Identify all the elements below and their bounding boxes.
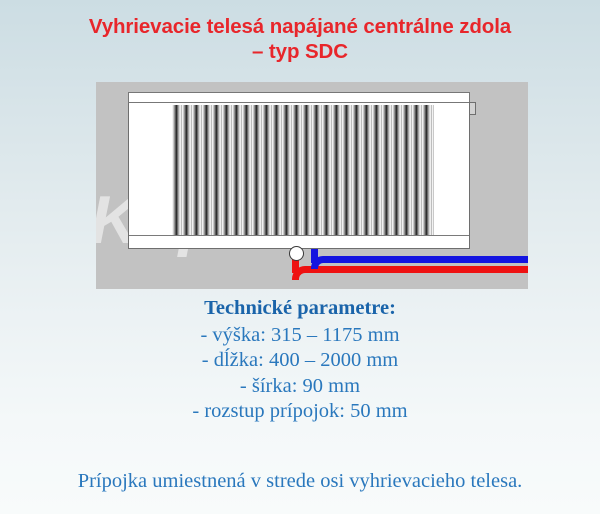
return-pipe-horizontal (324, 256, 528, 263)
radiator-top-cap (128, 92, 470, 103)
central-connection-valve-icon (289, 246, 304, 261)
page-title: Vyhrievacie telesá napájané centrálne zd… (0, 14, 600, 64)
page-title-line2: – typ SDC (0, 39, 600, 64)
spec-height: - výška: 315 – 1175 mm (0, 323, 600, 349)
radiator-bottom-edge (129, 235, 469, 236)
spec-connection-spacing: - rozstup prípojok: 50 mm (0, 399, 600, 425)
radiator-fins (172, 105, 434, 235)
return-pipe (311, 249, 528, 269)
spec-width: - šírka: 90 mm (0, 374, 600, 400)
page-title-line1: Vyhrievacie telesá napájané centrálne zd… (89, 15, 511, 38)
spec-length: - dĺžka: 400 – 2000 mm (0, 348, 600, 374)
radiator-diagram (128, 92, 470, 249)
footer-note: Prípojka umiestnená v strede osi vyhriev… (0, 470, 600, 493)
radiator-illustration: KúpeľneSK (96, 82, 528, 289)
technical-parameters-heading: Technické parametre: (0, 296, 600, 322)
slide-root: Vyhrievacie telesá napájané centrálne zd… (0, 0, 600, 514)
radiator-wall-bracket-icon (469, 102, 476, 115)
technical-parameters: Technické parametre: - výška: 315 – 1175… (0, 296, 600, 425)
